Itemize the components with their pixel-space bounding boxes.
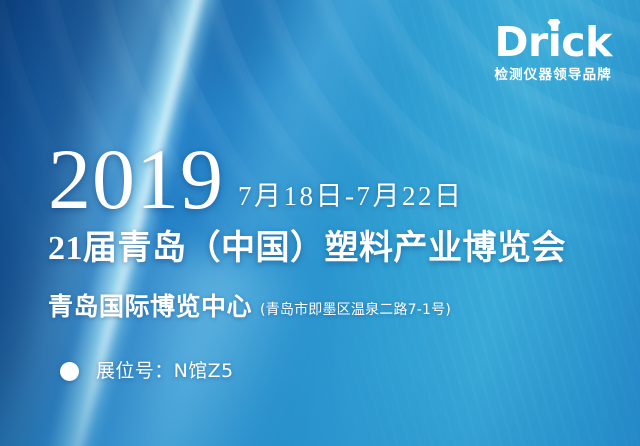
booth-row: 展位号：N馆Z5 <box>60 362 234 381</box>
circle-bullet-icon <box>60 362 79 381</box>
banner-copy: 2019 7月18日-7月22日 21届青岛（中国）塑料产业博览会 青岛国际博览… <box>0 0 640 446</box>
venue-row: 青岛国际博览中心 (青岛市即墨区温泉二路7-1号) <box>48 294 451 319</box>
year-and-date-row: 2019 7月18日-7月22日 <box>48 142 464 218</box>
venue-address: (青岛市即墨区温泉二路7-1号) <box>260 303 451 317</box>
venue-name: 青岛国际博览中心 <box>48 294 252 319</box>
date-range: 7月18日-7月22日 <box>238 174 464 213</box>
event-title: 21届青岛（中国）塑料产业博览会 <box>48 232 566 266</box>
year-heading: 2019 <box>48 142 224 218</box>
promotional-banner: Drick 检测仪器领导品牌 2019 7月18日-7月22日 21届青岛（中国… <box>0 0 640 446</box>
booth-number-text: 展位号：N馆Z5 <box>96 362 234 381</box>
